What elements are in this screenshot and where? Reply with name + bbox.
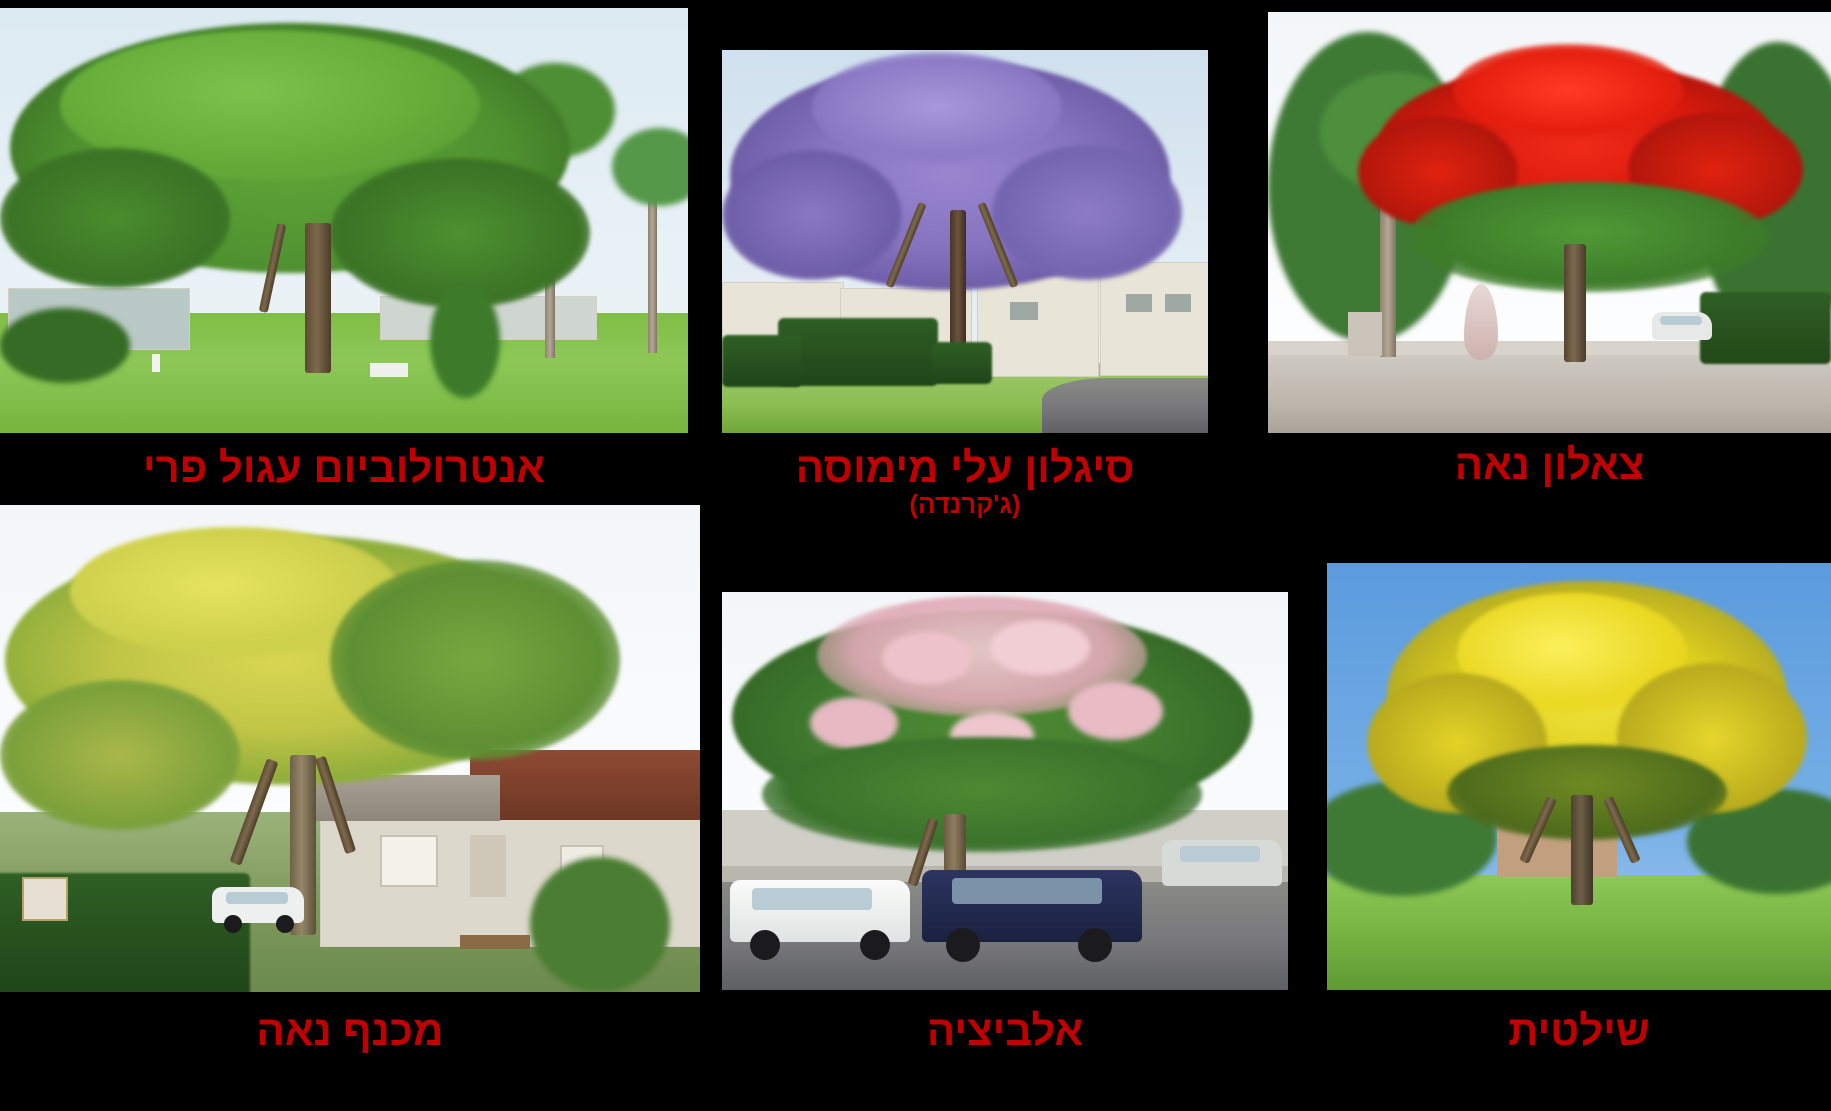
building-window-2: [1126, 294, 1152, 312]
bench: [460, 935, 530, 949]
caption-photo-5: אלביציה: [722, 1010, 1288, 1052]
shrub: [778, 318, 938, 386]
planter: [1348, 312, 1382, 356]
caption-photo-6: שילטית: [1327, 1010, 1831, 1052]
caption-photo-2-text: סיגלון עלי מימוסה: [796, 444, 1135, 491]
parked-car-far: [1162, 840, 1282, 886]
tree-canopy-green-right: [330, 560, 620, 760]
car-wheel-white-rear: [860, 930, 890, 960]
photo-shiltit: [1327, 563, 1831, 990]
building-window: [1010, 302, 1038, 320]
car-wheel-white-front: [750, 930, 780, 960]
poinciana-trunk: [1564, 244, 1586, 362]
jacaranda-canopy-top: [812, 52, 1062, 162]
shrub-3: [932, 342, 992, 384]
sign-board: [22, 877, 68, 921]
car-window-white: [752, 888, 872, 910]
car-window-far: [1180, 846, 1260, 862]
caption-photo-5-text: אלביציה: [927, 1007, 1083, 1054]
photo-mechnaf: [0, 505, 700, 992]
caption-photo-3: צאלון נאה: [1268, 444, 1831, 486]
jacaranda-canopy-left: [722, 150, 902, 280]
car-window: [226, 892, 288, 904]
flowering-shrub: [430, 283, 500, 398]
car-wheel-rear: [276, 915, 294, 933]
car-window-blue: [952, 878, 1102, 904]
caption-photo-1: אנטרולוביום עגול פרי: [0, 447, 688, 489]
tree-canopy-left-low: [0, 680, 240, 830]
photo-anterolobium: [0, 8, 688, 433]
caption-photo-2: סיגלון עלי מימוסה (ג'קרנדה): [700, 447, 1230, 517]
lawn-bench: [370, 363, 408, 377]
car-wheel-blue-rear: [1078, 928, 1112, 962]
tree-collage: אנטרולוביום עגול פרי סיגלון עלי מימוסה (…: [0, 0, 1831, 1111]
parked-car: [1652, 312, 1712, 340]
caption-photo-4: מכנף נאה: [0, 1010, 700, 1052]
photo-royal-poinciana: [1268, 12, 1831, 433]
car-wheel-blue-front: [946, 928, 980, 962]
albizia-green-low: [762, 737, 1202, 852]
poinciana-foliage: [1408, 182, 1768, 292]
tree-trunk: [305, 223, 331, 373]
caption-photo-3-text: צאלון נאה: [1455, 441, 1645, 488]
car-wheel-front: [224, 915, 242, 933]
caption-photo-2-subtext: (ג'קרנדה): [700, 491, 1230, 517]
photo-albizia: [722, 592, 1288, 990]
caption-photo-1-text: אנטרולוביום עגול פרי: [143, 444, 545, 491]
tree-canopy-lower-left: [0, 148, 230, 288]
pink-flower-cluster-2: [990, 620, 1090, 675]
caption-photo-6-text: שילטית: [1508, 1007, 1649, 1054]
pink-flower-cluster-4: [810, 697, 898, 749]
hedge-right: [1700, 292, 1831, 364]
building-far-right: [1100, 262, 1208, 376]
building-right: [977, 272, 1099, 377]
shrub-left: [0, 308, 130, 383]
bush-right: [530, 857, 670, 992]
lawn-marker: [152, 354, 160, 372]
caption-photo-4-text: מכנף נאה: [257, 1007, 444, 1054]
car-window: [1660, 316, 1702, 325]
house-roof: [470, 750, 700, 820]
shrub-2: [722, 335, 802, 387]
photo-jacaranda: [722, 50, 1208, 433]
house-window: [380, 835, 438, 887]
poinciana-canopy-top: [1453, 44, 1683, 136]
building-window-3: [1165, 294, 1191, 312]
plaza-pavement: [1268, 353, 1831, 433]
pink-flower-cluster-3: [1068, 682, 1163, 740]
house-door: [470, 835, 506, 897]
jacaranda-canopy-right: [992, 145, 1182, 280]
pink-flower-cluster-1: [882, 632, 972, 684]
tree-trunk: [1571, 795, 1593, 905]
gravel-path: [1042, 378, 1208, 433]
